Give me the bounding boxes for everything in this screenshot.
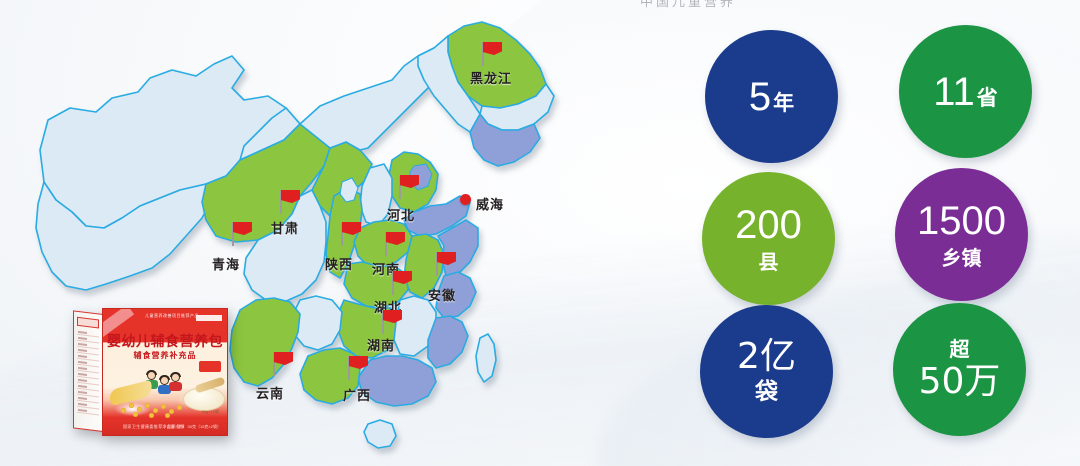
map-province-label: 安徽 <box>428 285 456 304</box>
product-package: 儿童营养改善项目推荐产品 婴幼儿辅食营养包 辅食营养补充品 <box>73 308 228 436</box>
grain <box>169 409 174 414</box>
grain <box>161 404 166 409</box>
flag-cloth <box>400 175 419 188</box>
stat-circle-children[interactable]: 超50万 <box>893 303 1026 436</box>
stat-unit-years: 年 <box>773 93 794 114</box>
grain <box>153 408 158 413</box>
province-fujian <box>428 316 468 368</box>
grain <box>149 413 154 418</box>
grain <box>177 405 182 410</box>
package-brand-logo <box>196 315 222 321</box>
stat-value-townships: 1500 <box>917 201 1006 241</box>
map-province-label: 青海 <box>212 254 240 273</box>
statistics-panel: 5年11省200县1500乡镇2亿袋超50万 <box>690 0 1080 466</box>
map-flag-marker[interactable] <box>279 190 301 214</box>
map-flag-marker[interactable] <box>381 310 403 334</box>
stat-value-bags: 2亿 <box>737 339 796 375</box>
grain <box>145 403 150 408</box>
package-top-text: 儿童营养改善项目推荐产品 <box>145 313 199 319</box>
map-flag-marker[interactable] <box>435 252 457 276</box>
package-product-name: 婴幼儿辅食营养包 <box>103 331 227 351</box>
child-body <box>169 382 182 391</box>
stat-line-years: 5年 <box>749 77 794 117</box>
stat-circle-provinces[interactable]: 11省 <box>899 25 1032 158</box>
package-product-subtitle: 辅食营养补充品 <box>103 350 227 361</box>
package-child-illustration <box>169 373 182 391</box>
stat-value-provinces: 11 <box>933 72 975 112</box>
stat-unit-townships: 乡镇 <box>942 248 982 268</box>
nutrition-table-row <box>77 407 99 416</box>
map-city-label: 威海 <box>476 194 504 213</box>
stat-circle-townships[interactable]: 1500乡镇 <box>895 168 1028 301</box>
stat-unit-counties: 县 <box>759 252 779 272</box>
infographic-slide: 中国儿童营养 <box>0 0 1080 466</box>
map-flag-marker[interactable] <box>384 232 406 256</box>
nutrition-table-header <box>77 317 99 329</box>
province-taiwan <box>476 334 496 382</box>
child-head <box>147 371 156 380</box>
child-head <box>171 373 180 382</box>
stat-value-children: 50万 <box>919 364 1001 400</box>
child-head <box>160 376 169 385</box>
package-weight-text: 净含量（克） 30克（15克×2袋） <box>162 424 221 430</box>
map-province-label: 陕西 <box>325 254 353 273</box>
grain <box>165 413 170 418</box>
map-flag-marker[interactable] <box>481 42 503 66</box>
stat-circle-years[interactable]: 5年 <box>705 30 838 163</box>
map-province-label: 云南 <box>256 383 284 402</box>
grain <box>137 407 142 412</box>
package-net-weight: 30g×15袋 <box>202 409 219 415</box>
flag-cloth <box>233 222 252 235</box>
map-flag-marker[interactable] <box>347 356 369 380</box>
stat-unit-bags: 袋 <box>755 381 778 404</box>
stat-circle-counties[interactable]: 200县 <box>702 172 835 305</box>
stat-unit-children: 超 <box>950 339 970 359</box>
stat-line-provinces: 11省 <box>933 72 998 112</box>
flag-cloth <box>393 271 412 284</box>
flag-cloth <box>483 42 502 55</box>
map-province-label: 湖南 <box>367 335 395 354</box>
package-front-panel: 儿童营养改善项目推荐产品 婴幼儿辅食营养包 辅食营养补充品 <box>102 308 228 436</box>
map-flag-marker[interactable] <box>231 222 253 246</box>
china-map: 黑龙江甘肃青海陕西河北河南安徽湖北湖南广西云南威海 <box>0 0 690 466</box>
flag-cloth <box>383 310 402 323</box>
flag-cloth <box>386 232 405 245</box>
map-flag-marker[interactable] <box>398 175 420 199</box>
stat-circle-bags[interactable]: 2亿袋 <box>700 305 833 438</box>
grain <box>121 408 126 413</box>
map-flag-marker[interactable] <box>391 271 413 295</box>
map-province-label: 广西 <box>343 385 371 404</box>
map-flag-marker[interactable] <box>340 222 362 246</box>
map-province-label: 甘肃 <box>271 218 299 237</box>
map-province-label: 河北 <box>387 205 415 224</box>
flag-cloth <box>437 252 456 265</box>
flag-cloth <box>349 356 368 369</box>
map-city-dot[interactable] <box>460 194 471 205</box>
stat-value-years: 5 <box>749 77 771 117</box>
flag-cloth <box>274 352 293 365</box>
package-side-panel <box>73 310 103 432</box>
map-flag-marker[interactable] <box>272 352 294 376</box>
province-hainan <box>364 420 396 448</box>
grain <box>133 412 138 417</box>
flag-cloth <box>281 190 300 203</box>
stat-value-counties: 200 <box>735 205 802 245</box>
map-province-label: 黑龙江 <box>470 68 512 87</box>
flag-cloth <box>342 222 361 235</box>
grain <box>129 403 134 408</box>
stat-unit-provinces: 省 <box>977 88 998 109</box>
